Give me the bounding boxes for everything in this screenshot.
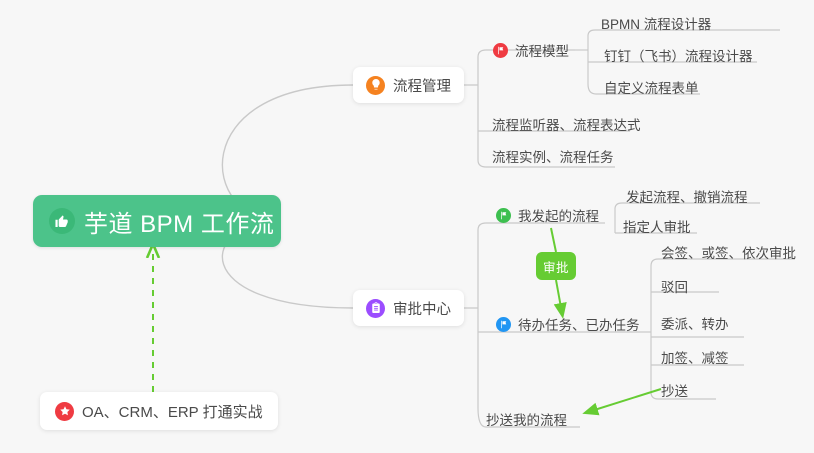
branch-label-approval-center: 审批中心 <box>393 298 451 319</box>
branch-node-approval-center[interactable]: 审批中心 <box>353 290 464 326</box>
flag-blue-icon <box>496 317 511 332</box>
node-label-start-cancel-process: 发起流程、撤销流程 <box>626 186 748 206</box>
node-process-model[interactable]: 流程模型 <box>493 38 569 62</box>
node-bpmn-designer[interactable]: BPMN 流程设计器 <box>601 11 711 35</box>
node-my-initiated-process[interactable]: 我发起的流程 <box>496 203 599 227</box>
node-custom-process-form[interactable]: 自定义流程表单 <box>604 75 699 99</box>
node-label-carbon-copy: 抄送 <box>661 380 688 400</box>
branch-label-process-management: 流程管理 <box>393 75 451 96</box>
root-label: 芋道 BPM 工作流 <box>84 204 274 239</box>
branch-node-process-management[interactable]: 流程管理 <box>353 67 464 103</box>
node-dingtalk-feishu-designer[interactable]: 钉钉（飞书）流程设计器 <box>604 43 753 67</box>
footer-node-integration-practice[interactable]: OA、CRM、ERP 打通实战 <box>40 392 278 430</box>
lightbulb-icon <box>366 76 385 95</box>
node-label-bpmn-designer: BPMN 流程设计器 <box>601 13 711 33</box>
node-label-delegate-transfer: 委派、转办 <box>661 313 729 333</box>
node-label-cc-to-me-process: 抄送我的流程 <box>486 409 567 429</box>
node-label-process-instance-task: 流程实例、流程任务 <box>492 146 614 166</box>
node-carbon-copy[interactable]: 抄送 <box>661 378 688 402</box>
node-label-todo-done-tasks: 待办任务、已办任务 <box>518 314 640 334</box>
node-process-listener-expression[interactable]: 流程监听器、流程表达式 <box>492 112 641 136</box>
star-icon <box>55 402 74 421</box>
node-label-countersign-orsign-sequential: 会签、或签、依次审批 <box>661 242 796 262</box>
node-label-custom-process-form: 自定义流程表单 <box>604 77 699 97</box>
node-start-cancel-process[interactable]: 发起流程、撤销流程 <box>626 184 748 208</box>
node-label-dingtalk-feishu-designer: 钉钉（飞书）流程设计器 <box>604 45 753 65</box>
root-node[interactable]: 芋道 BPM 工作流 <box>33 195 281 247</box>
node-cc-to-me-process[interactable]: 抄送我的流程 <box>486 407 567 431</box>
approval-tag-label: 审批 <box>543 257 569 276</box>
node-label-add-remove-sign: 加签、减签 <box>661 347 729 367</box>
footer-node-label: OA、CRM、ERP 打通实战 <box>82 401 263 422</box>
node-add-remove-sign[interactable]: 加签、减签 <box>661 345 729 369</box>
clipboard-icon <box>366 299 385 318</box>
approval-tag-badge[interactable]: 审批 <box>536 252 576 280</box>
node-label-process-model: 流程模型 <box>515 40 569 60</box>
node-label-process-listener-expression: 流程监听器、流程表达式 <box>492 114 641 134</box>
flag-green-icon <box>496 208 511 223</box>
node-assignee-approval[interactable]: 指定人审批 <box>623 214 691 238</box>
node-label-my-initiated-process: 我发起的流程 <box>518 205 599 225</box>
mindmap-canvas: 芋道 BPM 工作流 流程管理 审批中心 流程模型 BPMN 流程设计器 <box>0 0 814 453</box>
node-label-reject: 驳回 <box>661 276 688 296</box>
node-process-instance-task[interactable]: 流程实例、流程任务 <box>492 144 614 168</box>
flag-red-icon <box>493 43 508 58</box>
node-countersign-orsign-sequential[interactable]: 会签、或签、依次审批 <box>661 240 796 264</box>
node-reject[interactable]: 驳回 <box>661 274 688 298</box>
node-label-assignee-approval: 指定人审批 <box>623 216 691 236</box>
thumbs-up-icon <box>49 208 75 234</box>
node-delegate-transfer[interactable]: 委派、转办 <box>661 311 729 335</box>
node-todo-done-tasks[interactable]: 待办任务、已办任务 <box>496 312 640 336</box>
